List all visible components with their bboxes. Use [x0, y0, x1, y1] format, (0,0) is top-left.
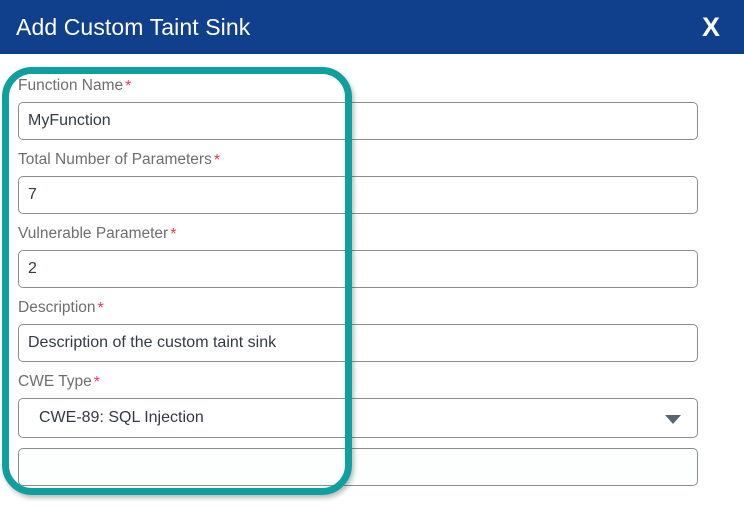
label-text: Vulnerable Parameter — [18, 225, 168, 242]
label-total-parameters: Total Number of Parameters* — [18, 150, 698, 171]
field-group-function-name: Function Name* — [18, 76, 698, 140]
field-group-description: Description* — [18, 298, 698, 362]
close-icon[interactable]: X — [700, 14, 722, 41]
description-input[interactable] — [18, 324, 698, 362]
label-function-name: Function Name* — [18, 76, 698, 97]
required-asterisk: * — [98, 300, 104, 317]
label-text: CWE Type — [18, 373, 92, 390]
partial-input-below-fold[interactable] — [18, 448, 698, 486]
label-text: Description — [18, 299, 96, 316]
label-text: Function Name — [18, 77, 123, 94]
dialog-title: Add Custom Taint Sink — [16, 16, 250, 39]
label-text: Total Number of Parameters — [18, 151, 212, 168]
label-cwe-type: CWE Type* — [18, 372, 698, 393]
dialog-header: Add Custom Taint Sink X — [0, 0, 744, 54]
required-asterisk: * — [94, 374, 100, 391]
label-vulnerable-parameter: Vulnerable Parameter* — [18, 224, 698, 245]
field-group-cwe-type: CWE Type* CWE-89: SQL Injection — [18, 372, 698, 438]
cwe-type-select[interactable]: CWE-89: SQL Injection — [18, 398, 698, 438]
field-group-total-parameters: Total Number of Parameters* — [18, 150, 698, 214]
total-parameters-input[interactable] — [18, 176, 698, 214]
vulnerable-parameter-input[interactable] — [18, 250, 698, 288]
function-name-input[interactable] — [18, 102, 698, 140]
dialog-body: Function Name* Total Number of Parameter… — [0, 54, 744, 510]
field-group-vulnerable-parameter: Vulnerable Parameter* — [18, 224, 698, 288]
required-asterisk: * — [170, 226, 176, 243]
required-asterisk: * — [125, 78, 131, 95]
required-asterisk: * — [214, 152, 220, 169]
label-description: Description* — [18, 298, 698, 319]
field-group-partial-below-fold — [18, 448, 698, 486]
cwe-type-select-wrapper: CWE-89: SQL Injection — [18, 398, 698, 438]
